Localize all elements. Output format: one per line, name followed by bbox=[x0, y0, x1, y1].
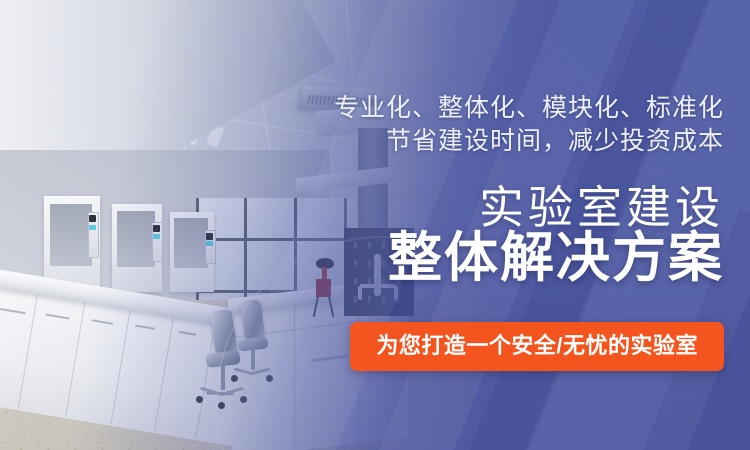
cta-button[interactable]: 为您打造一个安全/无忧的实验室 bbox=[350, 322, 724, 371]
lab-solution-banner: 专业化、整体化、模块化、标准化 节省建设时间，减少投资成本 实验室建设 整体解决… bbox=[0, 0, 750, 450]
headline-line-2: 整体解决方案 bbox=[388, 226, 724, 290]
subheadline-line-1: 专业化、整体化、模块化、标准化 bbox=[334, 92, 724, 125]
banner-copy: 专业化、整体化、模块化、标准化 节省建设时间，减少投资成本 实验室建设 整体解决… bbox=[294, 0, 724, 450]
subheadline-line-2: 节省建设时间，减少投资成本 bbox=[386, 125, 724, 158]
